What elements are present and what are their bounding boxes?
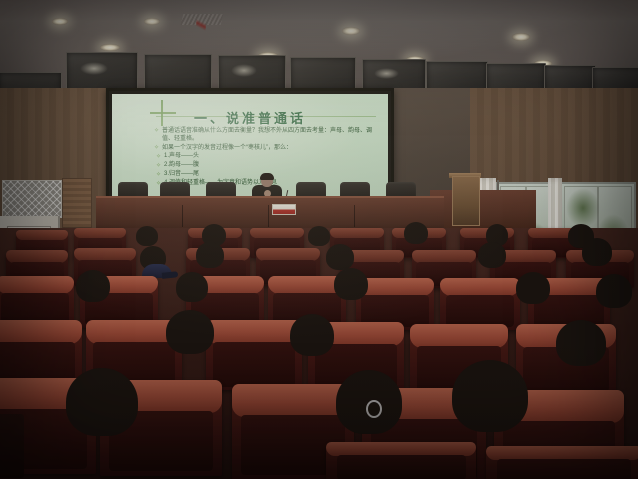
audience-member — [326, 244, 354, 270]
person-head — [308, 226, 330, 246]
audience-member — [582, 238, 612, 266]
person-head — [478, 242, 506, 268]
armrest — [0, 414, 24, 478]
person-head — [176, 272, 208, 302]
audience-area — [0, 228, 638, 479]
slide-body: ✧ 普通话语音准确从什么方面去衡量？我想不外从四方面去考量：声母、韵母、调值、轻… — [154, 127, 380, 153]
downlight — [52, 18, 68, 25]
audience-member — [290, 314, 334, 356]
seat-back — [337, 455, 466, 479]
seat-crest — [74, 248, 136, 261]
slide-bullet: ✧ 如果一个汉字的发音过程像一个“枣核儿”，那么： — [154, 144, 380, 152]
slide-paragraph-2: 如果一个汉字的发音过程像一个“枣核儿”，那么： — [162, 144, 292, 152]
seat-crest — [330, 228, 384, 238]
seat[interactable] — [486, 446, 638, 479]
audience-member — [596, 274, 632, 308]
audience-member — [404, 222, 428, 244]
panel-glint — [374, 68, 399, 80]
person-head — [334, 268, 368, 300]
seat-crest — [6, 250, 68, 263]
audience-member — [556, 320, 606, 366]
panel-glint — [231, 64, 257, 76]
bullet-icon: ✧ — [156, 153, 161, 161]
air-vent-icon — [181, 14, 224, 25]
seat-crest — [0, 320, 82, 344]
seat[interactable] — [206, 320, 302, 390]
vent-red-marker — [195, 14, 208, 35]
slide-paragraph-1: 普通话语音准确从什么方面去衡量？我想不外从四方面去考量：声母、韵母、调值、轻重格… — [162, 127, 380, 143]
presenter-hair — [260, 173, 274, 180]
audience-member — [176, 272, 208, 302]
downlight — [512, 33, 530, 41]
seat-crest — [440, 278, 520, 296]
person-head — [290, 314, 334, 356]
seat[interactable] — [440, 278, 520, 330]
audience-member — [196, 242, 224, 268]
audience-member — [76, 270, 110, 302]
list-item-label: 3.归音——尾 — [164, 170, 199, 179]
window-blind — [62, 178, 92, 228]
person-head — [166, 310, 214, 354]
list-item-label: 1.声母——头 — [164, 152, 199, 161]
list-item: ✧ 1.声母——头 — [156, 152, 382, 161]
person-head — [582, 238, 612, 266]
bullet-icon: ✧ — [154, 144, 159, 152]
person-head — [76, 270, 110, 302]
audience-member — [516, 272, 550, 304]
slide-bullet: ✧ 普通话语音准确从什么方面去衡量？我想不外从四方面去考量：声母、韵母、调值、轻… — [154, 127, 380, 143]
bullet-icon: ✧ — [156, 162, 161, 170]
bullet-icon: ✧ — [156, 171, 161, 179]
foliage-outside — [566, 188, 600, 228]
podium — [452, 176, 480, 226]
person-head — [326, 244, 354, 270]
seat-back — [213, 342, 296, 386]
person-head — [556, 320, 606, 366]
audience-member — [66, 368, 138, 436]
downlight — [144, 18, 160, 25]
audience-member — [136, 226, 158, 246]
seat-crest — [74, 228, 126, 238]
list-item-label: 2.韵母——腹 — [164, 161, 199, 170]
list-item: ✧ 2.韵母——腹 — [156, 161, 382, 170]
table-seam — [268, 205, 269, 227]
bullet-icon: ✧ — [154, 127, 159, 135]
seat-crest — [326, 442, 476, 456]
person-head — [196, 242, 224, 268]
audience-member — [166, 310, 214, 354]
panel-glint — [80, 62, 108, 75]
person-head — [404, 222, 428, 244]
stage-wall-right — [430, 190, 536, 232]
seat-crest — [410, 324, 508, 348]
hair-clip — [366, 400, 382, 418]
person-head — [136, 226, 158, 246]
person-head — [596, 274, 632, 308]
audience-member — [452, 360, 528, 432]
downlight — [342, 27, 360, 35]
table-seam — [354, 205, 355, 227]
name-card — [272, 204, 296, 215]
audience-member — [308, 226, 330, 246]
seat-crest — [486, 446, 638, 460]
ventilation-grille — [2, 180, 62, 218]
seat-crest — [0, 276, 74, 294]
seat-back — [497, 459, 631, 479]
auditorium-photo: 普通话 从应试到应用 — [0, 0, 638, 479]
seat-crest — [206, 320, 302, 344]
seat-crest — [412, 250, 476, 263]
seat-crest — [250, 228, 304, 238]
audience-member — [334, 268, 368, 300]
audience-member — [478, 242, 506, 268]
person-head — [516, 272, 550, 304]
seat-crest — [16, 230, 68, 240]
person-head — [452, 360, 528, 432]
seat-back — [446, 295, 515, 328]
seat[interactable] — [326, 442, 476, 479]
person-head — [66, 368, 138, 436]
table-seam — [182, 205, 183, 227]
slide-title: 一、说准普通话 — [112, 108, 388, 127]
seat-crest — [256, 248, 320, 261]
